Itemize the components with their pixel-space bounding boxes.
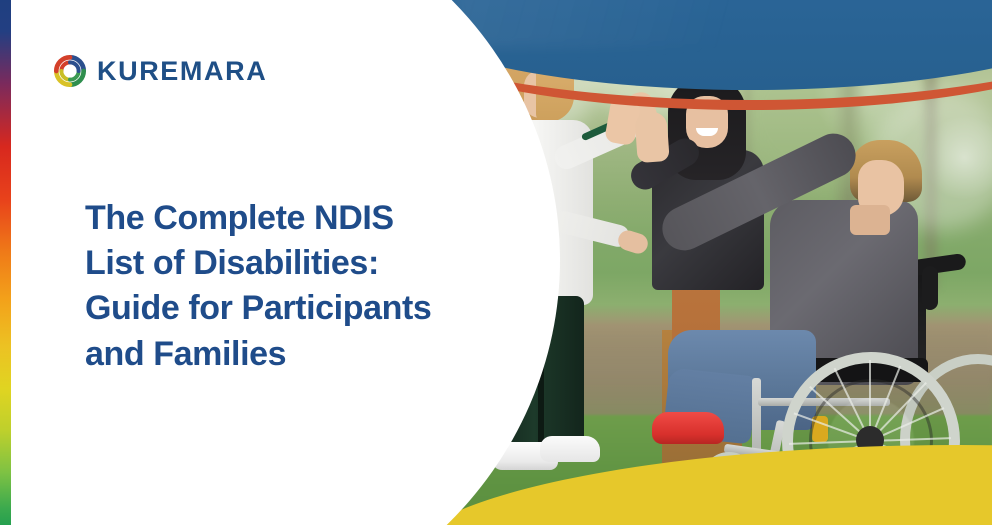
person-hand bbox=[634, 111, 669, 163]
title-line-2: List of Disabilities: bbox=[85, 241, 555, 286]
multicolor-swirl-ring-icon bbox=[52, 53, 88, 89]
person-shoe bbox=[540, 436, 600, 462]
wheelchair-handle bbox=[922, 266, 938, 310]
page-title: The Complete NDIS List of Disabilities: … bbox=[85, 196, 555, 377]
rainbow-edge-stripe bbox=[0, 0, 11, 525]
person-shoe bbox=[652, 412, 724, 444]
title-line-3: Guide for Participants bbox=[85, 286, 555, 331]
brand-name: KUREMARA bbox=[97, 58, 267, 85]
title-line-4: and Families bbox=[85, 332, 555, 377]
blog-banner: KUREMARA The Complete NDIS List of Disab… bbox=[0, 0, 992, 525]
brand-logo[interactable]: KUREMARA bbox=[52, 53, 267, 89]
title-line-1: The Complete NDIS bbox=[85, 196, 555, 241]
person-neck bbox=[850, 205, 890, 235]
